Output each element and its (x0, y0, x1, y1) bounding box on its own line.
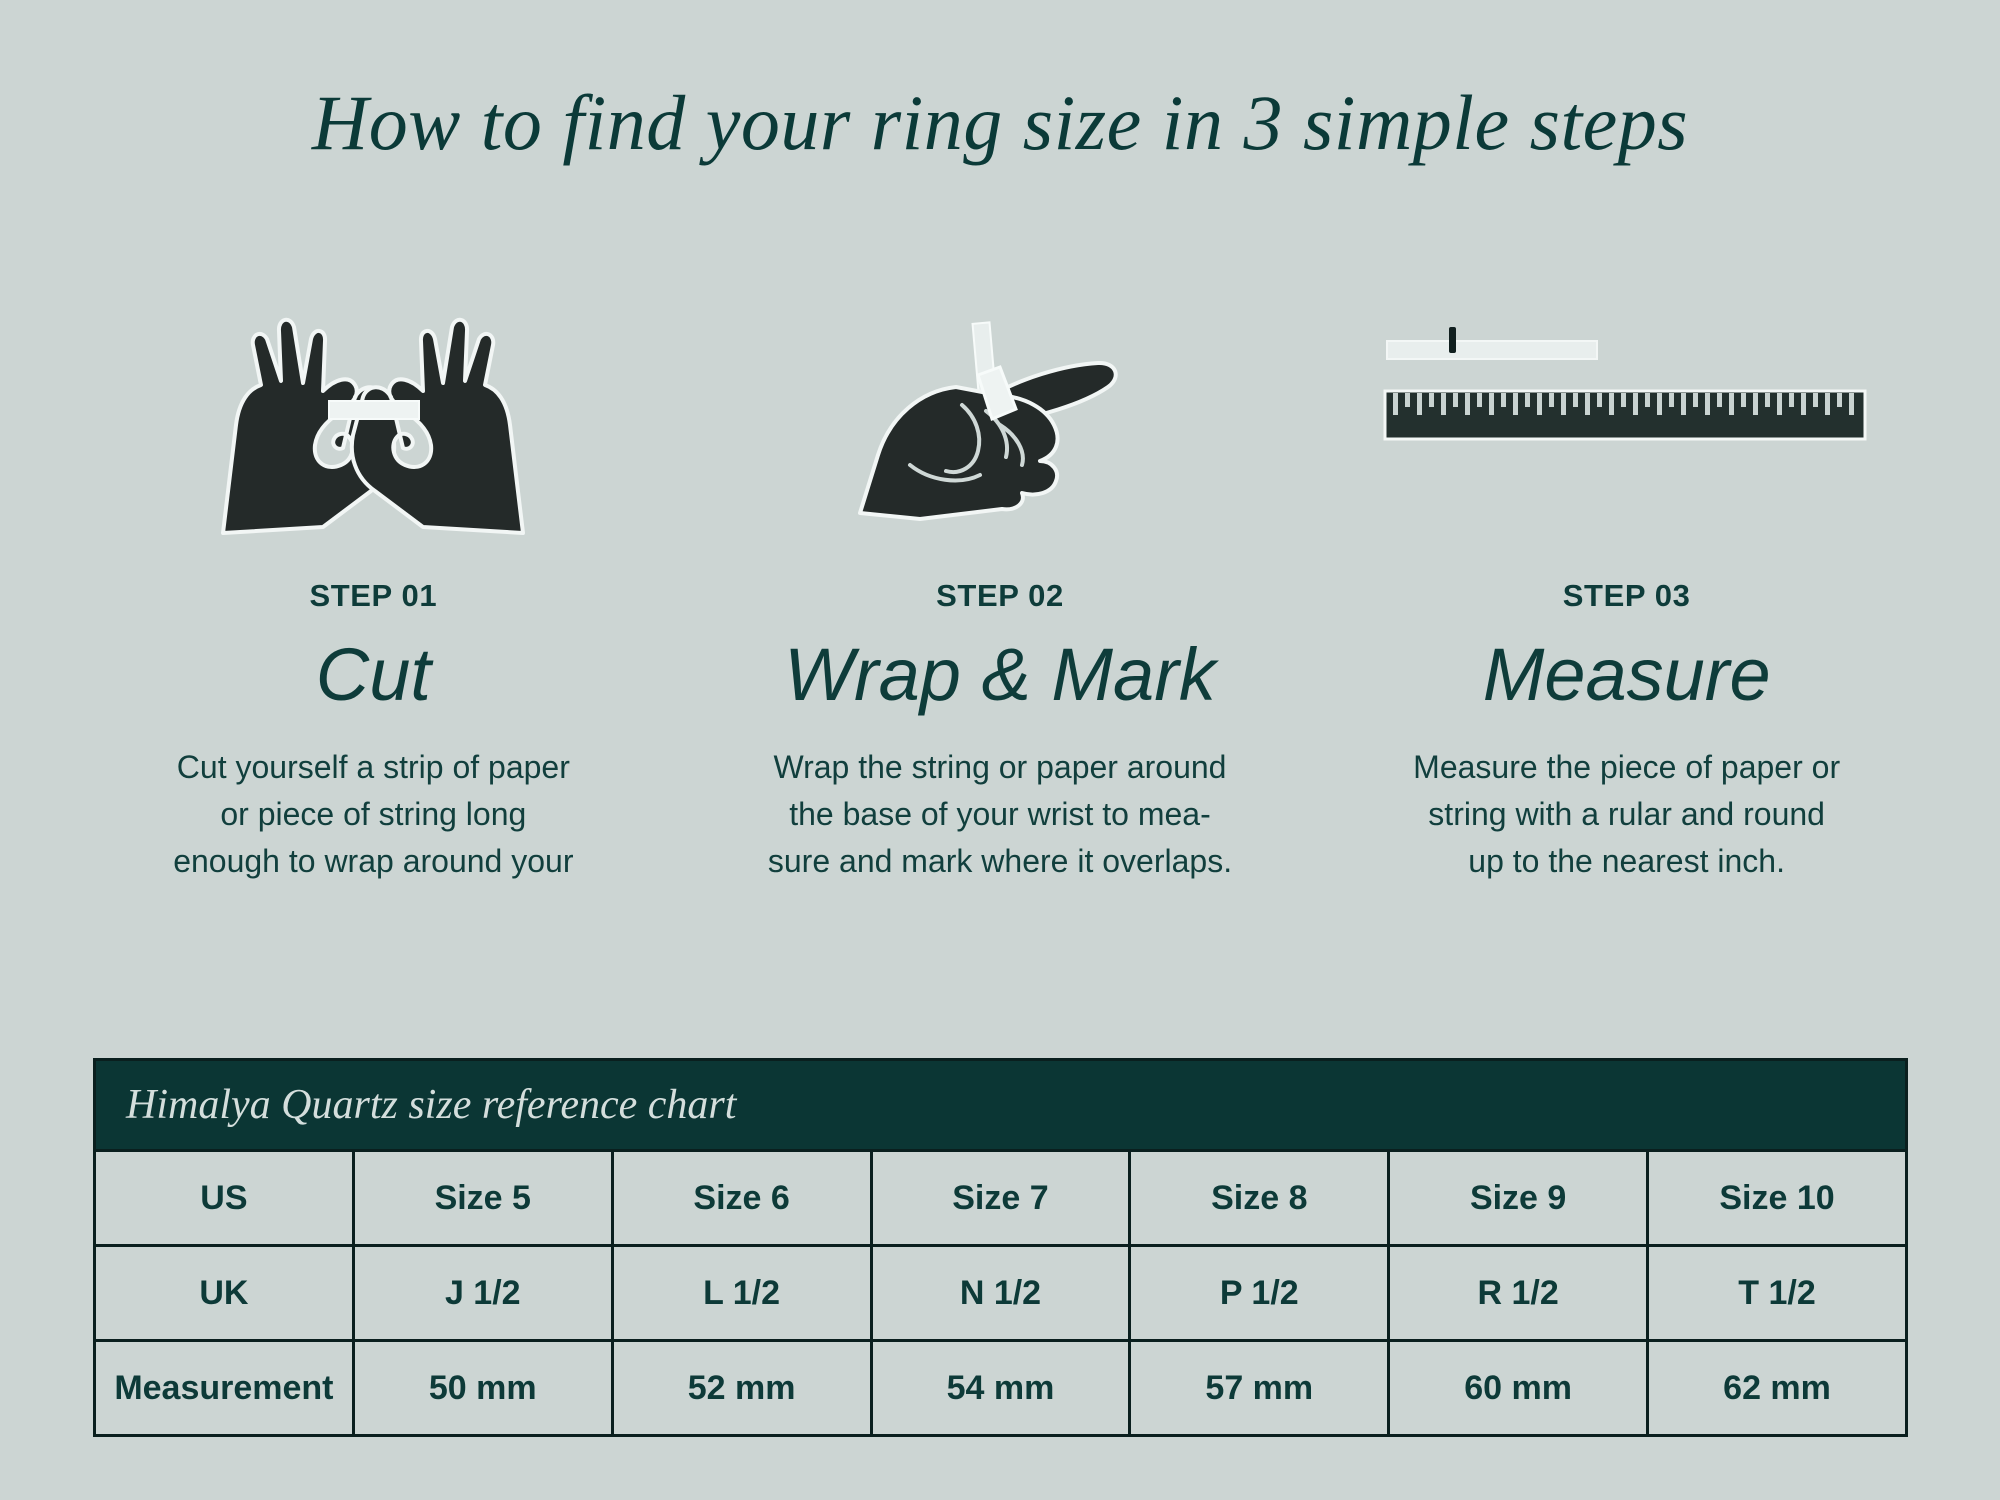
ruler-with-paper-strip-icon (1313, 270, 1940, 570)
steps-row: STEP 01 Cut Cut yourself a strip of pape… (60, 270, 1940, 886)
step-card-2: STEP 02 Wrap & Mark Wrap the string or p… (687, 270, 1314, 886)
table-cell: Size 9 (1389, 1151, 1648, 1246)
step-kicker: STEP 01 (309, 578, 437, 614)
step-description: Cut yourself a strip of paper or piece o… (173, 744, 573, 886)
table-row: UK J 1/2 L 1/2 N 1/2 P 1/2 R 1/2 T 1/2 (95, 1246, 1907, 1341)
step-desc-line: the base of your wrist to mea- (768, 791, 1232, 838)
step-desc-line: Wrap the string or paper around (768, 744, 1232, 791)
table-cell: 57 mm (1130, 1341, 1389, 1436)
step-description: Wrap the string or paper around the base… (768, 744, 1232, 886)
table-cell: T 1/2 (1648, 1246, 1907, 1341)
step-kicker: STEP 03 (1563, 578, 1691, 614)
step-desc-line: Cut yourself a strip of paper (173, 744, 573, 791)
step-name: Measure (1483, 636, 1771, 714)
step-desc-line: or piece of string long (173, 791, 573, 838)
two-hands-holding-paper-strip-icon (60, 270, 687, 570)
table-cell: 60 mm (1389, 1341, 1648, 1436)
table-caption-row: Himalya Quartz size reference chart (95, 1060, 1907, 1151)
step-kicker: STEP 02 (936, 578, 1064, 614)
step-desc-line: sure and mark where it overlaps. (768, 838, 1232, 885)
step-card-1: STEP 01 Cut Cut yourself a strip of pape… (60, 270, 687, 886)
step-description: Measure the piece of paper or string wit… (1413, 744, 1840, 886)
step-name: Wrap & Mark (784, 636, 1216, 714)
step-name: Cut (316, 636, 431, 714)
page-title: How to find your ring size in 3 simple s… (0, 78, 2000, 168)
table-cell: Size 8 (1130, 1151, 1389, 1246)
size-reference-table: Himalya Quartz size reference chart US S… (93, 1058, 1908, 1437)
table-cell: Size 7 (871, 1151, 1130, 1246)
step-desc-line: string with a rular and round (1413, 791, 1840, 838)
table-cell: J 1/2 (353, 1246, 612, 1341)
hand-wrapping-finger-icon (687, 270, 1314, 570)
row-label-measurement: Measurement (95, 1341, 354, 1436)
step-desc-line: up to the nearest inch. (1413, 838, 1840, 885)
table-cell: N 1/2 (871, 1246, 1130, 1341)
table-row: Measurement 50 mm 52 mm 54 mm 57 mm 60 m… (95, 1341, 1907, 1436)
table-cell: 54 mm (871, 1341, 1130, 1436)
step-desc-line: Measure the piece of paper or (1413, 744, 1840, 791)
row-label-us: US (95, 1151, 354, 1246)
table-cell: 62 mm (1648, 1341, 1907, 1436)
table-cell: Size 5 (353, 1151, 612, 1246)
table-cell: 52 mm (612, 1341, 871, 1436)
table-cell: R 1/2 (1389, 1246, 1648, 1341)
table-caption: Himalya Quartz size reference chart (95, 1060, 1907, 1151)
table-row: US Size 5 Size 6 Size 7 Size 8 Size 9 Si… (95, 1151, 1907, 1246)
step-card-3: STEP 03 Measure Measure the piece of pap… (1313, 270, 1940, 886)
step-desc-line: enough to wrap around your (173, 838, 573, 885)
table-cell: Size 10 (1648, 1151, 1907, 1246)
table-cell: Size 6 (612, 1151, 871, 1246)
table-cell: P 1/2 (1130, 1246, 1389, 1341)
table-cell: 50 mm (353, 1341, 612, 1436)
row-label-uk: UK (95, 1246, 354, 1341)
table-cell: L 1/2 (612, 1246, 871, 1341)
